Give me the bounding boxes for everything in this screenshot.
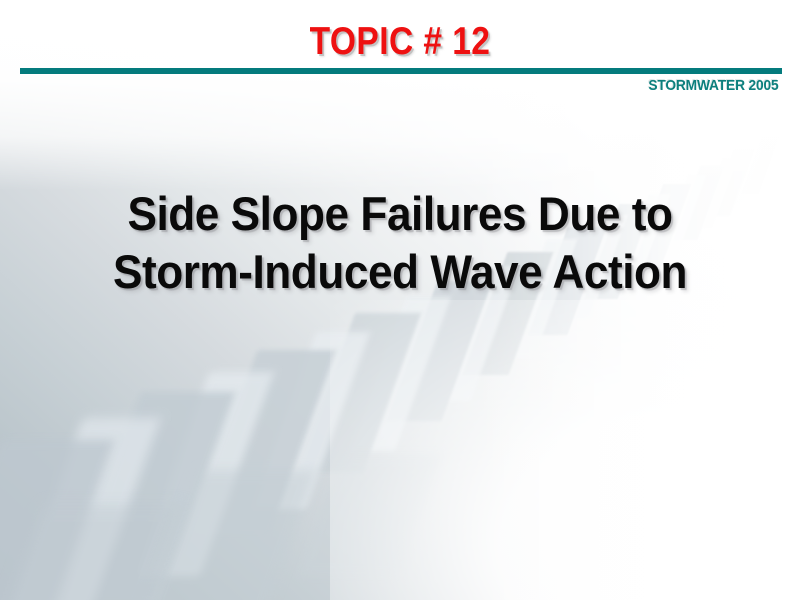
conference-name-label: STORMWATER 2005 xyxy=(648,78,778,93)
header-divider-rule xyxy=(20,68,782,74)
topic-number-title: TOPIC # 12 xyxy=(56,22,744,61)
slide-main-heading: Side Slope Failures Due to Storm-Induced… xyxy=(24,185,776,301)
heading-line-2: Storm-Induced Wave Action xyxy=(24,243,776,301)
presentation-slide: TOPIC # 12 STORMWATER 2005 Side Slope Fa… xyxy=(0,0,800,600)
slide-header: TOPIC # 12 STORMWATER 2005 xyxy=(0,0,800,108)
heading-line-1: Side Slope Failures Due to xyxy=(24,185,776,243)
